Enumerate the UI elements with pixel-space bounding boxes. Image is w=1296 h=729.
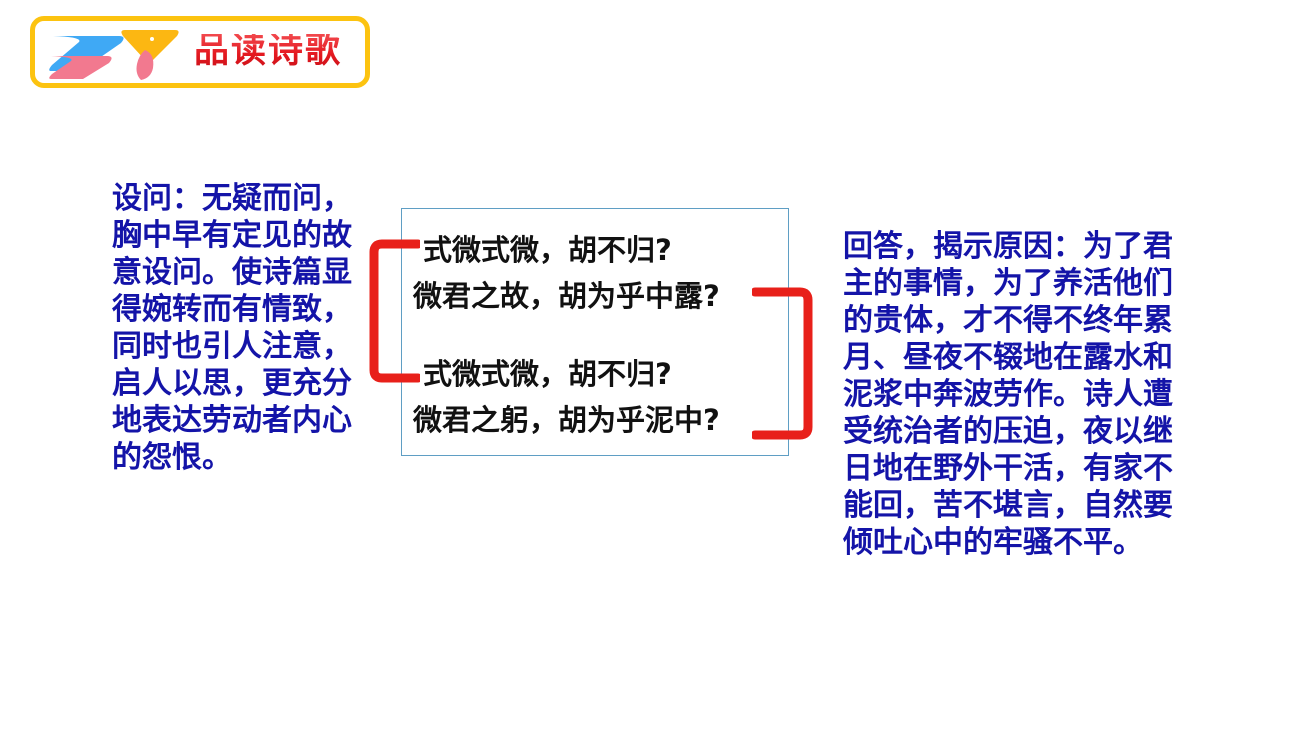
poem-line-spacer (413, 319, 783, 351)
phoenix-bird-logo-icon (49, 24, 181, 80)
header-badge: 品读诗歌 (30, 16, 370, 88)
poem-line: 微君之故，胡为乎中露? (413, 273, 783, 319)
page-title: 品读诗歌 (181, 34, 355, 71)
poem-line-list: 式微式微，胡不归? 微君之故，胡为乎中露? 式微式微，胡不归? 微君之躬，胡为乎… (413, 227, 783, 443)
poem-box: 式微式微，胡不归? 微君之故，胡为乎中露? 式微式微，胡不归? 微君之躬，胡为乎… (401, 208, 789, 456)
left-commentary-text: 设问：无疑而问，胸中早有定见的故意设问。使诗篇显得婉转而有情致，同时也引人注意，… (112, 180, 352, 476)
poem-line: 式微式微，胡不归? (413, 351, 783, 397)
poem-line: 微君之躬，胡为乎泥中? (413, 397, 783, 443)
right-commentary-text: 回答，揭示原因：为了君主的事情，为了养活他们的贵体，才不得不终年累月、昼夜不辍地… (843, 228, 1173, 561)
poem-line: 式微式微，胡不归? (413, 227, 783, 273)
